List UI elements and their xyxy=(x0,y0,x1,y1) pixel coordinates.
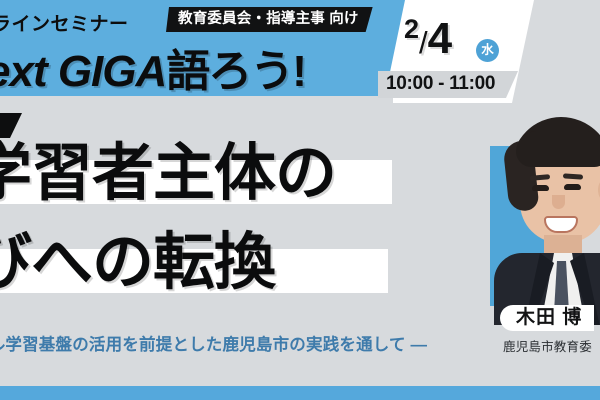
headline-line-1: 学習者主体の xyxy=(0,133,430,210)
banner-header: ラインセミナー 教育委員会・指導主事 向け ext GIGA語ろう! 2/4 水… xyxy=(0,0,600,103)
headline-line-2: びへの転換 xyxy=(0,222,430,299)
speaker-photo xyxy=(460,103,600,325)
portrait-eye-right xyxy=(564,184,581,190)
speaker-portrait-illustration xyxy=(506,117,600,325)
speaker-affiliation: 鹿児島市教育委 xyxy=(503,336,592,355)
seminar-banner: ラインセミナー 教育委員会・指導主事 向け ext GIGA語ろう! 2/4 水… xyxy=(0,0,600,400)
audience-tag: 教育委員会・指導主事 向け xyxy=(166,7,373,32)
portrait-nose xyxy=(552,195,565,209)
event-date-day: 4 xyxy=(428,14,451,63)
seminar-kicker-text: ラインセミナー xyxy=(0,9,129,36)
headline-text-1: 学習者主体の xyxy=(0,138,336,210)
headline-text-2: びへの転換 xyxy=(0,227,275,299)
headline-subtitle: タル学習基盤の活用を前提とした鹿児島市の実践を通して — xyxy=(0,331,427,355)
footer-blue-bar xyxy=(0,386,600,400)
event-date: 2/4 xyxy=(404,14,451,64)
portrait-eye-left xyxy=(532,185,549,191)
day-of-week-badge: 水 xyxy=(476,39,499,62)
event-date-month: 2 xyxy=(404,14,419,44)
seminar-title-jp: 語ろう! xyxy=(166,47,305,96)
speaker-name: 木田 博 xyxy=(500,305,594,331)
seminar-title-latin: ext GIGA xyxy=(0,47,166,96)
event-time-text: 10:00 - 11:00 xyxy=(386,73,495,95)
portrait-fringe xyxy=(516,131,600,167)
seminar-title: ext GIGA語ろう! xyxy=(0,35,305,99)
headline-block: 学習者主体の びへの転換 xyxy=(0,133,430,311)
event-date-slash: / xyxy=(419,25,428,60)
